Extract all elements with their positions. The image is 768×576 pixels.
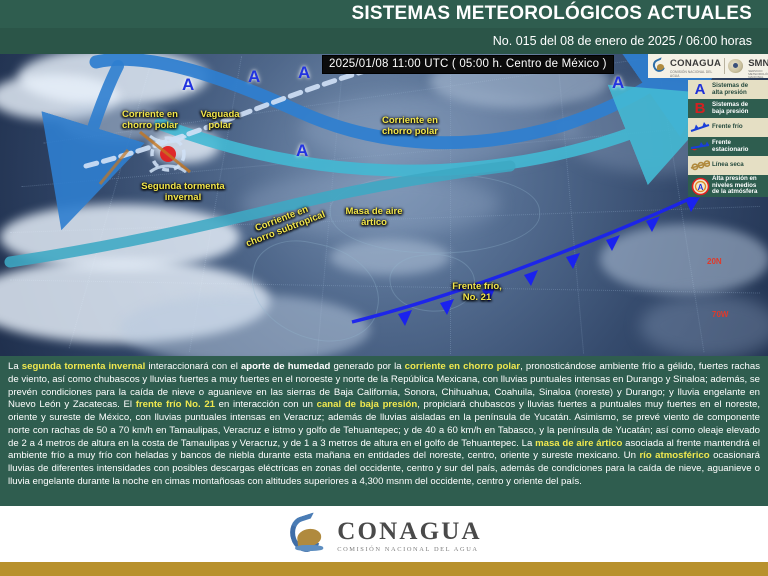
coordinate-label-lon: 70W [712, 310, 728, 319]
smn-logo-tagline: SERVICIO METEOROLÓGICO NACIONAL [748, 70, 768, 79]
legend-item-linea-seca: Línea seca [688, 156, 768, 175]
forecast-text-panel: La segunda tormenta invernal interaccion… [0, 356, 768, 506]
stationary-front-icon [690, 138, 710, 155]
conagua-logo-tagline: COMISIÓN NACIONAL DEL AGUA [670, 71, 721, 77]
weather-bulletin-page: SISTEMAS METEOROLÓGICOS ACTUALES No. 015… [0, 0, 768, 576]
bold-term: aporte de humedad [241, 361, 330, 372]
mid-level-high-icon: A [690, 178, 710, 195]
highlighted-term: frente frío No. 21 [136, 399, 215, 410]
legend-label: Línea seca [712, 162, 744, 169]
smn-logo-icon [728, 58, 745, 74]
legend-item-frente-frio: Frente frío [688, 118, 768, 137]
legend-item-alta-niveles-medios: A Alta presión en niveles medios de la a… [688, 175, 768, 197]
legend-label: Frente estacionario [712, 140, 748, 154]
footer-conagua-logo: CONAGUA COMISIÓN NACIONAL DEL AGUA [286, 514, 482, 558]
annotation-vaguada-polar: Vaguada polar [190, 110, 250, 132]
highlighted-term: masa de aire ártico [535, 438, 622, 449]
map-timestamp: 2025/01/08 11:00 UTC ( 05:00 h. Centro d… [322, 55, 614, 74]
annotation-segunda-tormenta-invernal: Segunda tormenta invernal [128, 182, 238, 204]
text-run: en interacción con un [215, 399, 317, 410]
text-run: generado por la [330, 361, 404, 372]
forecast-text: La segunda tormenta invernal interaccion… [8, 361, 760, 489]
high-pressure-marker-a: A [612, 74, 624, 91]
high-pressure-marker-a: A [248, 68, 260, 85]
legend-item-baja-presion: B Sistemas de baja presión [688, 99, 768, 118]
header-band: SISTEMAS METEOROLÓGICOS ACTUALES [0, 0, 768, 28]
cloud-mass [600, 224, 768, 294]
smn-logo-text: SMN [748, 58, 768, 69]
conagua-logo-icon [652, 58, 667, 74]
footer-logo-tagline: COMISIÓN NACIONAL DEL AGUA [337, 547, 482, 553]
legend-label: Frente frío [712, 124, 743, 131]
cloud-mass [150, 129, 220, 163]
cloud-mass [640, 294, 768, 356]
letter-b-icon: B [690, 100, 710, 117]
highlighted-term: río atmosférico [639, 450, 709, 461]
high-pressure-marker-a: A [182, 76, 194, 93]
page-title: SISTEMAS METEOROLÓGICOS ACTUALES [352, 3, 768, 25]
svg-text:A: A [697, 183, 703, 192]
cold-front-icon [690, 119, 710, 136]
text-run: La [8, 361, 22, 372]
header-subtitle-band: No. 015 del 08 de enero de 2025 / 06:00 … [0, 28, 768, 54]
text-run: interaccionará con el [145, 361, 241, 372]
conagua-emblem-icon [286, 514, 328, 558]
letter-a-icon: A [690, 81, 710, 98]
map-legend: A Sistemas de alta presión B Sistemas de… [688, 80, 768, 197]
annotation-corriente-chorro-polar-este: Corriente en chorro polar [372, 116, 448, 138]
footer-gold-bar [0, 562, 768, 576]
legend-label: Sistemas de baja presión [712, 102, 748, 116]
annotation-corriente-chorro-polar-oeste: Corriente en chorro polar [112, 110, 188, 132]
annotation-frente-frio-21: Frente frío, No. 21 [442, 282, 512, 304]
dry-line-icon [690, 157, 710, 174]
legend-item-alta-presion: A Sistemas de alta presión [688, 80, 768, 99]
bulletin-number-date: No. 015 del 08 de enero de 2025 / 06:00 … [493, 34, 768, 48]
high-pressure-marker-a: A [296, 142, 308, 159]
footer: CONAGUA COMISIÓN NACIONAL DEL AGUA [0, 506, 768, 576]
highlighted-term: segunda tormenta invernal [22, 361, 146, 372]
satellite-weather-map[interactable]: A A A A A 20N 70W Corriente en chorro po… [0, 54, 768, 356]
map-logo-bar: CONAGUA COMISIÓN NACIONAL DEL AGUA SMN S… [648, 54, 768, 78]
highlighted-term: corriente en chorro polar [405, 361, 520, 372]
footer-logo-name: CONAGUA [337, 518, 482, 545]
conagua-logo-text: CONAGUA [670, 58, 721, 69]
legend-item-frente-estacionario: Frente estacionario [688, 137, 768, 156]
high-pressure-marker-a: A [298, 64, 310, 81]
legend-label: Alta presión en niveles medios de la atm… [712, 176, 757, 197]
logo-divider [724, 58, 725, 74]
coordinate-label-lat: 20N [707, 257, 722, 266]
legend-label: Sistemas de alta presión [712, 83, 748, 97]
annotation-masa-de-aire-artico: Masa de aire ártico [333, 207, 415, 229]
highlighted-term: canal de baja presión [317, 399, 418, 410]
